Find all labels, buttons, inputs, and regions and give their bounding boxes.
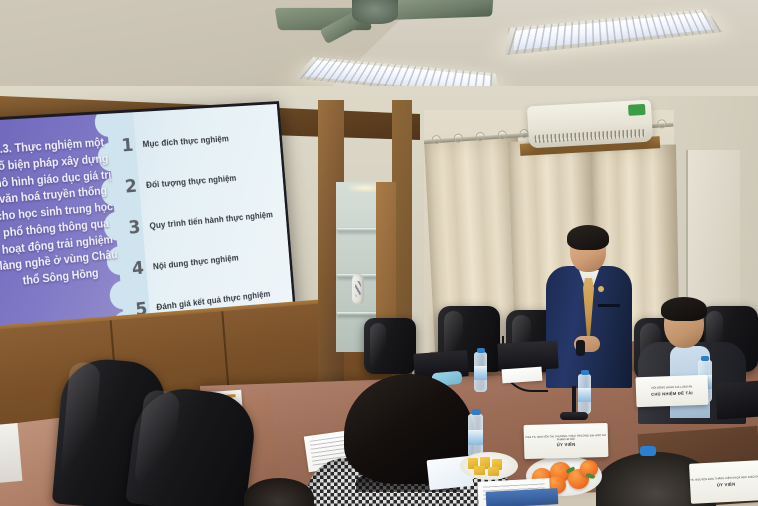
suit-pocket	[598, 304, 620, 307]
hair-clip	[640, 446, 656, 456]
placard-role: CHỦ NHIỆM ĐỀ TÀI	[651, 390, 693, 396]
slide-item-text: Quy trình tiến hành thực nghiệm	[149, 210, 273, 231]
slide-item-number: 2	[115, 175, 147, 198]
ac-vent	[535, 129, 645, 143]
blue-folder	[486, 488, 559, 506]
monitor	[715, 380, 758, 419]
slide-item-text: Mục đích thực nghiệm	[142, 134, 229, 149]
microphone-base	[560, 412, 588, 420]
conference-room-photo: 3.3. Thực nghiệm một số biện pháp xây dự…	[0, 0, 758, 506]
lapel-pin-icon	[598, 286, 604, 292]
placard-role: ỦY VIÊN	[557, 442, 576, 447]
slide-item-number: 1	[111, 134, 143, 157]
placard-role: ỦY VIÊN	[717, 481, 736, 487]
panelist-hair	[661, 297, 707, 321]
standing-presenter	[546, 228, 632, 386]
name-placard: TS. NGUYỄN ĐỨC THẮNG VIỆN KHOA HỌC GIÁO …	[689, 460, 758, 504]
water-bottle	[578, 374, 591, 414]
presenter-hair	[567, 225, 609, 250]
ceiling-fan-icon	[352, 0, 398, 24]
slide-item-text: Đối tượng thực nghiệm	[146, 173, 237, 190]
ac-brand-label	[628, 104, 646, 116]
water-bottle	[468, 414, 483, 458]
air-conditioner-icon	[527, 100, 653, 149]
decorative-vase	[352, 274, 364, 304]
chair[interactable]	[364, 318, 416, 374]
snack-plate	[460, 452, 518, 480]
slide-item-number: 4	[122, 256, 154, 280]
placard-org: PGS.TS. NGUYỄN THỊ PHƯƠNG THẢO TRƯỜNG ĐẠ…	[524, 434, 608, 443]
microphone-icon	[576, 340, 585, 356]
name-placard: PGS.TS. NGUYỄN THỊ PHƯƠNG THẢO TRƯỜNG ĐẠ…	[524, 423, 609, 459]
slide-item-number: 3	[118, 216, 150, 240]
name-placard: HỘI ĐỒNG ĐÁNH GIÁ LUẬN ÁN CHỦ NHIỆM ĐỀ T…	[635, 375, 708, 407]
slide-title: 3.3. Thực nghiệm một số biện pháp xây dự…	[0, 135, 122, 293]
slide-item-text: Nội dung thực nghiệm	[153, 253, 239, 272]
